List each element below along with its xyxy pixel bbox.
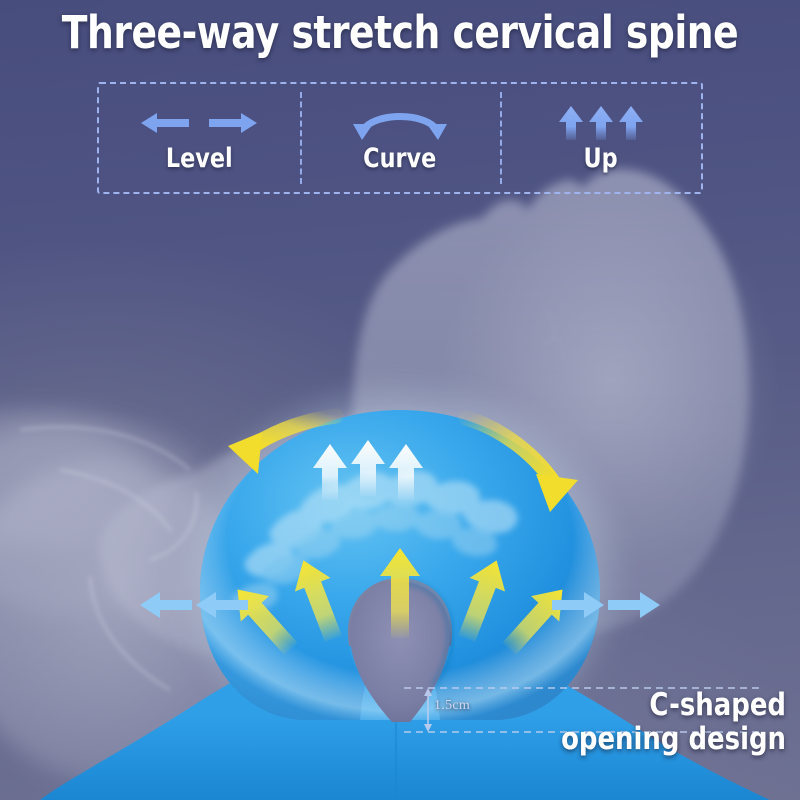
product-marketing-image: Three-way stretch cervical spine Level — [0, 0, 800, 800]
pillow-illustration — [0, 0, 800, 800]
caption-line-1: C-shaped — [649, 687, 786, 723]
white-up-arrows — [313, 440, 423, 500]
c-shaped-opening-caption: C-shaped opening design — [488, 689, 786, 756]
dimension-label: 1.5cm — [434, 698, 470, 714]
caption-line-2: opening design — [488, 723, 786, 756]
